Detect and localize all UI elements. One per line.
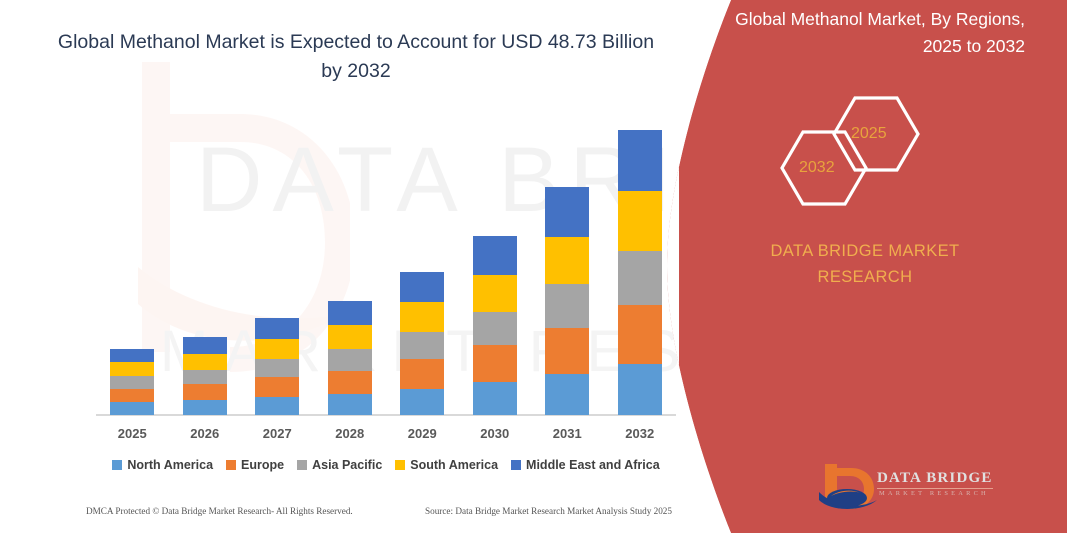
bar-segment[interactable] [183, 370, 227, 385]
company-logo: DATA BRIDGE MARKET RESEARCH [817, 462, 1007, 518]
legend-swatch-icon [226, 460, 236, 470]
bar-segment[interactable] [545, 374, 589, 415]
bar-segment[interactable] [473, 312, 517, 346]
bar-chart-plot [96, 120, 676, 415]
bar-column [96, 120, 168, 415]
chart-legend: North AmericaEuropeAsia PacificSouth Ame… [96, 455, 676, 475]
infographic-canvas: DATA BRIDGE MARKET RESEARCH Global Metha… [0, 0, 1067, 533]
bar-segment[interactable] [545, 187, 589, 237]
legend-item[interactable]: Asia Pacific [297, 458, 382, 472]
legend-label: Middle East and Africa [526, 458, 660, 472]
bar-segment[interactable] [328, 349, 372, 371]
x-tick-label: 2028 [314, 426, 386, 441]
stacked-bar[interactable] [183, 337, 227, 415]
stacked-bar[interactable] [400, 272, 444, 415]
bar-segment[interactable] [328, 301, 372, 325]
bar-segment[interactable] [618, 191, 662, 251]
bar-segment[interactable] [400, 359, 444, 389]
brand-line-1: DATA BRIDGE MARKET [715, 238, 1015, 264]
bar-segment[interactable] [618, 130, 662, 191]
x-tick-label: 2029 [386, 426, 458, 441]
bar-segment[interactable] [110, 402, 154, 415]
x-tick-label: 2031 [531, 426, 603, 441]
brand-name: DATA BRIDGE MARKET RESEARCH [715, 238, 1015, 290]
bar-segment[interactable] [473, 345, 517, 382]
stacked-bar[interactable] [255, 318, 299, 415]
footer-bar: DMCA Protected © Data Bridge Market Rese… [86, 506, 672, 522]
legend-item[interactable]: Middle East and Africa [511, 458, 660, 472]
stacked-bar[interactable] [545, 187, 589, 415]
bar-segment[interactable] [328, 325, 372, 348]
bar-segment[interactable] [473, 275, 517, 312]
bar-segment[interactable] [400, 272, 444, 303]
bar-segment[interactable] [110, 362, 154, 376]
bar-segment[interactable] [110, 389, 154, 403]
bar-segment[interactable] [255, 397, 299, 415]
legend-swatch-icon [511, 460, 521, 470]
branding-panel: Global Methanol Market, By Regions, 2025… [667, 0, 1067, 533]
logo-title: DATA BRIDGE [877, 470, 993, 487]
bar-segment[interactable] [545, 284, 589, 327]
bar-segment[interactable] [183, 337, 227, 354]
bar-segment[interactable] [110, 376, 154, 389]
bar-column [531, 120, 603, 415]
bar-segment[interactable] [255, 339, 299, 359]
bar-column [169, 120, 241, 415]
panel-title: Global Methanol Market, By Regions, 2025… [707, 6, 1025, 60]
bar-segment[interactable] [183, 400, 227, 415]
bar-column [241, 120, 313, 415]
chart-panel: Global Methanol Market is Expected to Ac… [0, 0, 712, 533]
bar-segment[interactable] [400, 302, 444, 332]
footer-copyright: DMCA Protected © Data Bridge Market Rese… [86, 506, 353, 522]
bar-segment[interactable] [183, 354, 227, 370]
legend-label: Asia Pacific [312, 458, 382, 472]
x-tick-label: 2032 [604, 426, 676, 441]
bar-segment[interactable] [618, 364, 662, 415]
bar-segment[interactable] [110, 349, 154, 363]
hexagon-label-2032: 2032 [799, 159, 835, 177]
stacked-bar[interactable] [618, 130, 662, 415]
bar-segment[interactable] [473, 236, 517, 275]
stacked-bar[interactable] [110, 349, 154, 415]
stacked-bar[interactable] [473, 236, 517, 415]
legend-item[interactable]: Europe [226, 458, 284, 472]
legend-label: Europe [241, 458, 284, 472]
legend-swatch-icon [112, 460, 122, 470]
bar-segment[interactable] [400, 389, 444, 415]
legend-label: North America [127, 458, 213, 472]
bar-segment[interactable] [255, 377, 299, 397]
bar-segment[interactable] [618, 251, 662, 306]
bar-segment[interactable] [255, 318, 299, 339]
x-axis-tick-labels: 20252026202720282029203020312032 [96, 422, 676, 444]
logo-divider [877, 488, 993, 489]
x-tick-label: 2026 [169, 426, 241, 441]
legend-item[interactable]: South America [395, 458, 498, 472]
legend-label: South America [410, 458, 498, 472]
x-tick-label: 2027 [241, 426, 313, 441]
chart-title: Global Methanol Market is Expected to Ac… [56, 28, 656, 86]
hexagon-shapes-icon [777, 92, 977, 212]
bar-segment[interactable] [545, 237, 589, 284]
bar-column [314, 120, 386, 415]
bar-segment[interactable] [618, 305, 662, 364]
bar-segment[interactable] [328, 371, 372, 394]
brand-line-2: RESEARCH [715, 264, 1015, 290]
stacked-bar[interactable] [328, 301, 372, 415]
legend-item[interactable]: North America [112, 458, 213, 472]
legend-swatch-icon [297, 460, 307, 470]
x-tick-label: 2025 [96, 426, 168, 441]
hexagon-group: 2025 2032 [777, 92, 977, 212]
bar-segment[interactable] [183, 384, 227, 400]
legend-swatch-icon [395, 460, 405, 470]
x-tick-label: 2030 [459, 426, 531, 441]
bar-segment[interactable] [400, 332, 444, 359]
bar-column [459, 120, 531, 415]
bar-column [386, 120, 458, 415]
footer-source: Source: Data Bridge Market Research Mark… [425, 506, 672, 522]
bar-segment[interactable] [473, 382, 517, 415]
bar-segment[interactable] [255, 359, 299, 377]
bar-column [604, 120, 676, 415]
data-bridge-logo-icon [817, 462, 879, 512]
logo-subtitle: MARKET RESEARCH [879, 490, 989, 497]
hexagon-label-2025: 2025 [851, 125, 887, 143]
bar-segment[interactable] [545, 328, 589, 374]
bar-segment[interactable] [328, 394, 372, 415]
